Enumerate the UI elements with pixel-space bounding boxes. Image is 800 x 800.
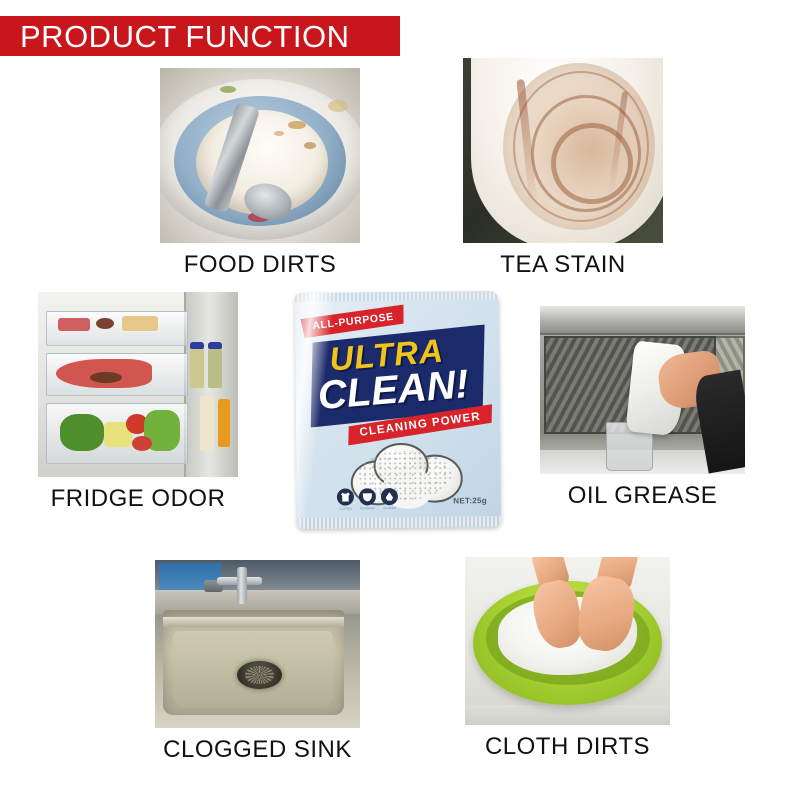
function-card-clogged-sink: CLOGGED SINK xyxy=(155,560,360,764)
fridge-bottle-cap xyxy=(190,342,204,349)
caption-fridge-odor: FRIDGE ODOR xyxy=(38,485,238,513)
package-bottom-seal xyxy=(297,516,501,529)
photo-food-dirts xyxy=(160,68,360,243)
product-package: ALL-PURPOSE ULTRA CLEAN! CLEANING POWER … xyxy=(292,286,504,534)
fridge-food-item xyxy=(122,316,158,331)
fridge-food-item xyxy=(96,318,114,329)
cup-shape xyxy=(471,58,663,243)
fridge-bottle xyxy=(200,396,214,452)
function-card-fridge-odor: FRIDGE ODOR xyxy=(38,292,238,513)
function-card-food-dirts: FOOD DIRTS xyxy=(160,68,360,279)
package-icon-caption: DISHWARE xyxy=(360,506,375,510)
drop-glyph xyxy=(385,492,394,501)
function-card-cloth-dirts: CLOTH DIRTS xyxy=(465,557,670,761)
food-residue-spot xyxy=(288,121,306,130)
fridge-food-item xyxy=(58,318,90,331)
photo-oil-grease xyxy=(540,306,745,474)
fridge-bottle xyxy=(190,348,204,389)
photo-tea-stain xyxy=(463,58,663,243)
dishware-icon xyxy=(359,488,376,505)
caption-clogged-sink: CLOGGED SINK xyxy=(155,736,360,764)
package-icon-clothes: CLOTHES xyxy=(337,488,354,510)
photo-clogged-sink xyxy=(155,560,360,728)
package-bag: ALL-PURPOSE ULTRA CLEAN! CLEANING POWER … xyxy=(295,291,501,529)
function-card-oil-grease: OIL GREASE xyxy=(540,306,745,510)
fridge-bottle-cap xyxy=(208,342,222,349)
food-residue-spot xyxy=(220,86,236,93)
package-icon-dishware: DISHWARE xyxy=(359,488,376,510)
package-usage-icons: CLOTHES DISHWARE OIL STAIN xyxy=(337,488,398,511)
shirt-glyph xyxy=(341,493,350,502)
page-title: PRODUCT FUNCTION xyxy=(0,21,349,52)
photo-fridge-odor xyxy=(38,292,238,477)
food-residue-spot xyxy=(304,142,316,149)
header-banner: PRODUCT FUNCTION xyxy=(0,16,400,56)
package-icon-caption: CLOTHES xyxy=(338,507,353,511)
table-surface xyxy=(465,705,670,725)
caption-oil-grease: OIL GREASE xyxy=(540,482,745,510)
photo-cloth-dirts xyxy=(465,557,670,725)
range-hood-top xyxy=(540,306,745,335)
drain-grate xyxy=(245,666,274,684)
fridge-vegetable-item xyxy=(60,414,104,451)
caption-cloth-dirts: CLOTH DIRTS xyxy=(465,733,670,761)
package-icon-caption: OIL STAIN xyxy=(382,506,397,510)
fridge-vegetable-item xyxy=(132,436,152,451)
package-net-weight: NET:25g xyxy=(453,496,487,505)
fridge-bottle xyxy=(218,399,230,447)
food-residue-spot xyxy=(328,100,348,112)
caption-food-dirts: FOOD DIRTS xyxy=(160,251,360,279)
cup-glyph xyxy=(363,493,372,501)
fridge-fish-detail xyxy=(90,372,122,383)
clothes-icon xyxy=(337,488,354,505)
package-icon-oil-stain: OIL STAIN xyxy=(381,488,398,510)
caption-tea-stain: TEA STAIN xyxy=(463,251,663,279)
water-drop-icon xyxy=(381,488,398,505)
function-card-tea-stain: TEA STAIN xyxy=(463,58,663,279)
faucet-body xyxy=(237,567,247,604)
sink-rim xyxy=(163,617,343,627)
fridge-bottle xyxy=(208,348,222,389)
